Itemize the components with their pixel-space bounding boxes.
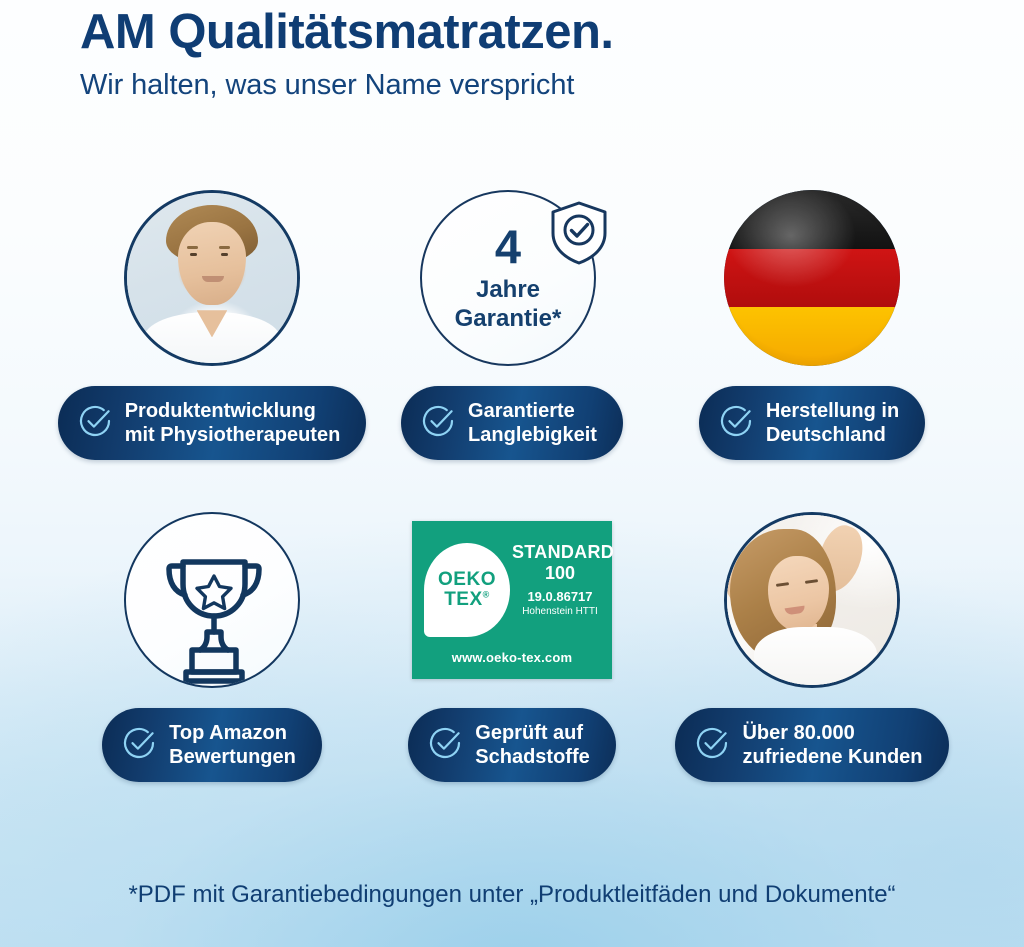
feature-pill-satisfied-customers[interactable]: Über 80.000 zufriedene Kunden — [675, 708, 948, 782]
feature-cell-product-development: Produktentwicklung mit Physiotherapeuten — [62, 190, 362, 460]
portrait-man-photo — [124, 190, 300, 366]
feature-pill-label: Über 80.000 zufriedene Kunden — [742, 721, 922, 769]
trophy-star-icon — [126, 677, 300, 688]
pill-line-2: mit Physiotherapeuten — [125, 423, 341, 447]
feature-pill-label: Garantierte Langlebigkeit — [468, 399, 597, 447]
feature-pill-product-development[interactable]: Produktentwicklung mit Physiotherapeuten — [58, 386, 367, 460]
feature-pill-made-in-germany[interactable]: Herstellung in Deutschland — [699, 386, 925, 460]
feature-pill-harmful-substances[interactable]: Geprüft auf Schadstoffe — [408, 708, 615, 782]
infographic-canvas: AM Qualitätsmatratzen. Wir halten, was u… — [0, 0, 1024, 947]
check-circle-icon — [428, 726, 462, 765]
oeko-tex-drop-logo: OEKO TEX® — [424, 543, 510, 637]
media-slot: OEKO TEX® STANDARD 100 19.0.86717 Hohens… — [412, 512, 612, 688]
footnote: *PDF mit Garantiebedingungen unter „Prod… — [0, 881, 1024, 909]
registered-mark: ® — [483, 590, 490, 600]
oeko-brand-text: TEX — [444, 589, 482, 610]
header: AM Qualitätsmatratzen. Wir halten, was u… — [80, 4, 614, 102]
pill-line-1: Geprüft auf — [475, 721, 589, 745]
pill-line-1: Garantierte — [468, 399, 597, 423]
warranty-line-1: Jahre — [476, 276, 540, 304]
feature-cell-made-in-germany: Herstellung in Deutschland — [662, 190, 962, 460]
warranty-badge: 4 Jahre Garantie* — [412, 190, 612, 366]
feature-pill-label: Top Amazon Bewertungen — [169, 721, 296, 769]
pill-line-2: Langlebigkeit — [468, 423, 597, 447]
warranty-number: 4 — [495, 223, 521, 270]
check-circle-icon — [695, 726, 729, 765]
shield-check-icon — [548, 200, 610, 271]
check-circle-icon — [78, 404, 112, 443]
feature-cell-oeko-tex: OEKO TEX® STANDARD 100 19.0.86717 Hohens… — [362, 512, 662, 782]
check-circle-icon — [421, 404, 455, 443]
check-circle-icon — [719, 404, 753, 443]
feature-pill-amazon-reviews[interactable]: Top Amazon Bewertungen — [102, 708, 322, 782]
pill-line-1: Herstellung in — [766, 399, 899, 423]
feature-cell-satisfied-customers: Über 80.000 zufriedene Kunden — [662, 512, 962, 782]
feature-pill-label: Geprüft auf Schadstoffe — [475, 721, 589, 769]
pill-line-1: Über 80.000 — [742, 721, 922, 745]
feature-pill-label: Herstellung in Deutschland — [766, 399, 899, 447]
pill-line-2: Bewertungen — [169, 745, 296, 769]
oeko-standard-label: STANDARD — [512, 543, 608, 563]
feature-pill-label: Produktentwicklung mit Physiotherapeuten — [125, 399, 341, 447]
oeko-tex-details: STANDARD 100 19.0.86717 Hohenstein HTTI — [512, 543, 608, 618]
german-flag-icon — [724, 190, 900, 366]
page-subtitle: Wir halten, was unser Name verspricht — [80, 69, 614, 102]
pill-line-2: Deutschland — [766, 423, 899, 447]
feature-pill-warranty[interactable]: Garantierte Langlebigkeit — [401, 386, 623, 460]
feature-cell-warranty: 4 Jahre Garantie* — [362, 190, 662, 460]
oeko-brand-line-1: OEKO — [438, 570, 496, 590]
media-slot — [724, 190, 900, 366]
media-slot — [724, 512, 900, 688]
oeko-institute: Hohenstein HTTI — [512, 606, 608, 618]
media-slot: 4 Jahre Garantie* — [412, 190, 612, 366]
pill-line-1: Produktentwicklung — [125, 399, 341, 423]
feature-row-2: Top Amazon Bewertungen OEKO TEX® — [0, 512, 1024, 782]
feature-row-1: Produktentwicklung mit Physiotherapeuten… — [0, 190, 1024, 460]
feature-cell-amazon-reviews: Top Amazon Bewertungen — [62, 512, 362, 782]
pill-line-2: zufriedene Kunden — [742, 745, 922, 769]
portrait-woman-photo — [724, 512, 900, 688]
media-slot — [124, 512, 300, 688]
check-circle-icon — [122, 726, 156, 765]
page-title: AM Qualitätsmatratzen. — [80, 4, 614, 61]
oeko-url: www.oeko-tex.com — [412, 650, 612, 665]
oeko-brand-line-2: TEX® — [444, 590, 490, 610]
pill-line-1: Top Amazon — [169, 721, 296, 745]
pill-line-2: Schadstoffe — [475, 745, 589, 769]
media-slot — [124, 190, 300, 366]
oeko-standard-number: 100 — [512, 563, 608, 584]
warranty-line-2: Garantie* — [455, 305, 562, 333]
oeko-certificate-number: 19.0.86717 — [512, 590, 608, 605]
trophy-circle — [124, 512, 300, 688]
oeko-tex-label: OEKO TEX® STANDARD 100 19.0.86717 Hohens… — [412, 521, 612, 679]
